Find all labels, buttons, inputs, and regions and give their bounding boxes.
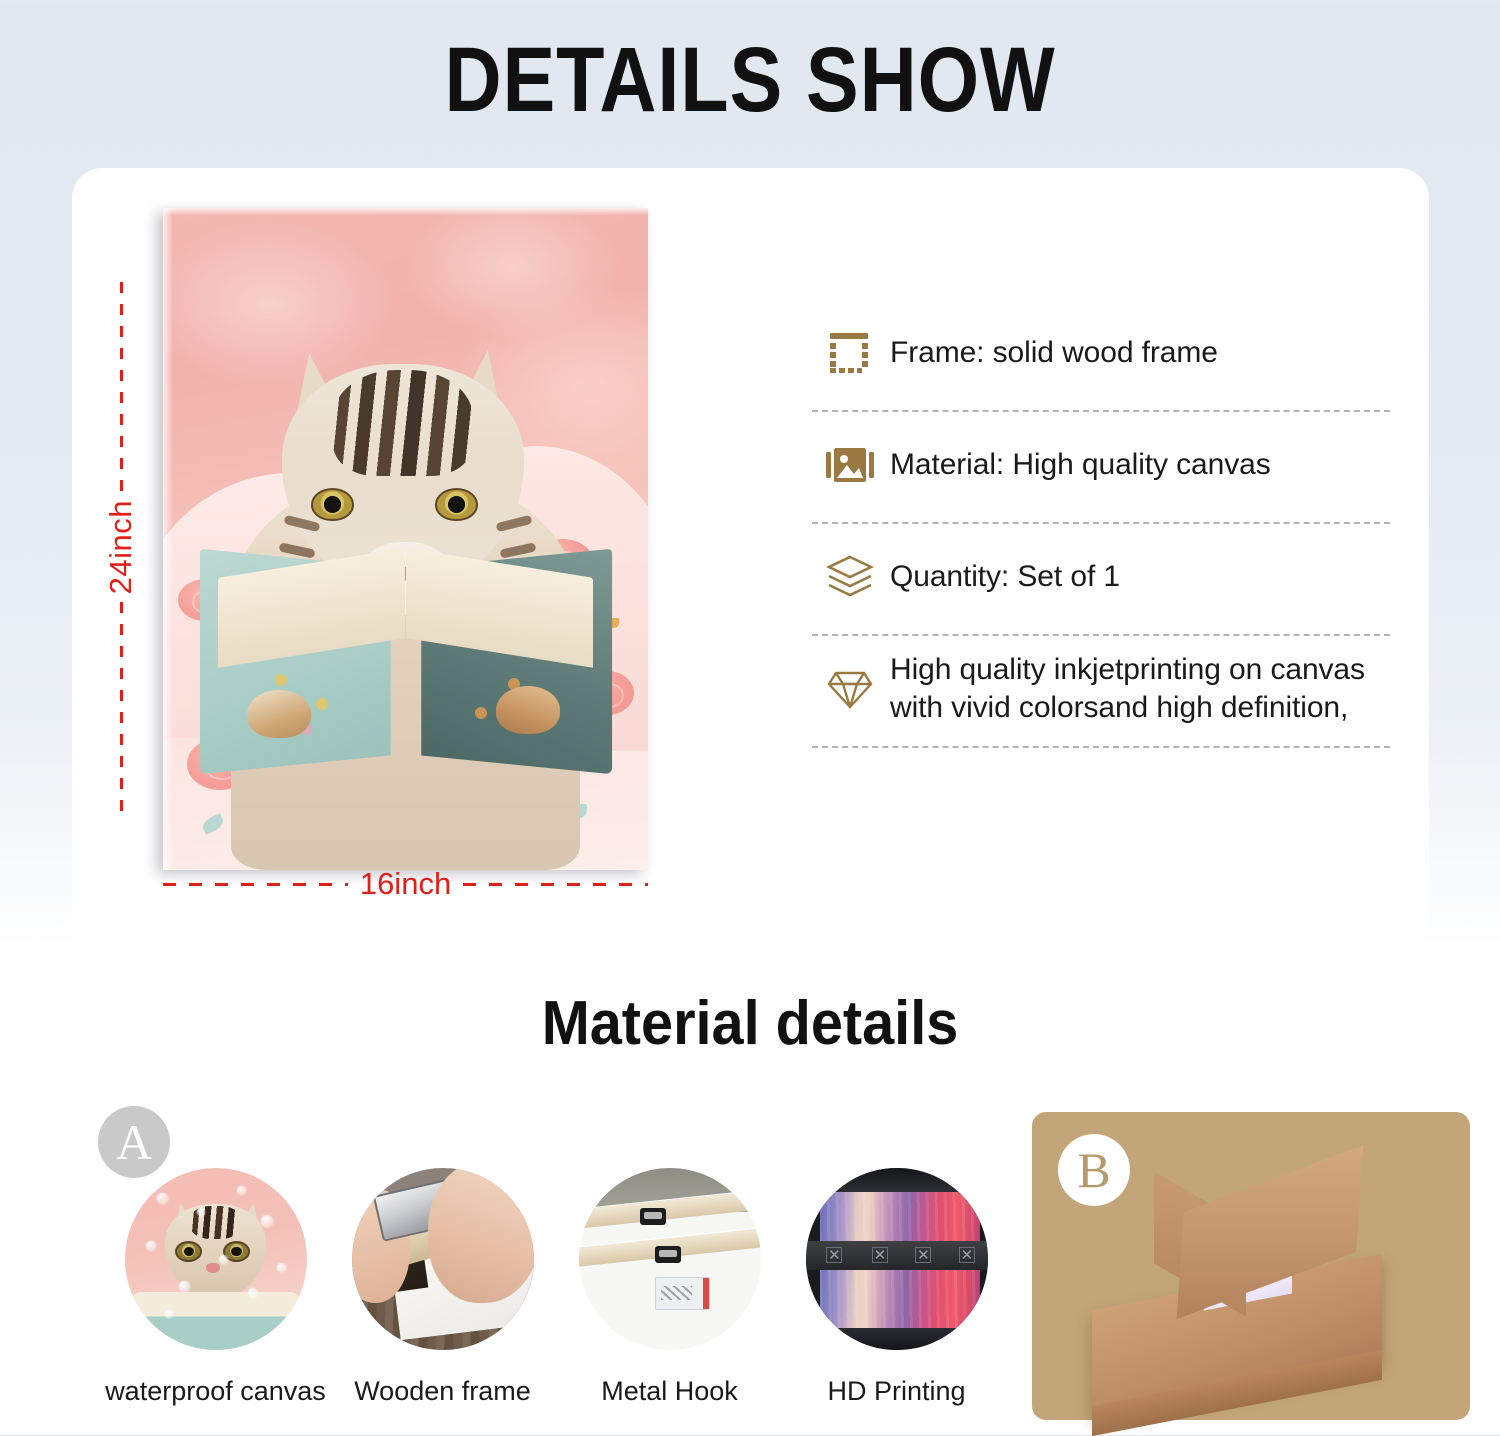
feature-row-quality: High quality inkjetprinting on canvas wi… [812, 636, 1390, 748]
thumb-printer-bottom [806, 1328, 988, 1350]
artwork-cat-eye-left [311, 488, 354, 521]
diamond-icon [812, 667, 890, 711]
material-panel-a: A waterp [96, 1106, 986, 1416]
panel-a-badge: A [98, 1106, 170, 1178]
water-droplet [179, 1281, 190, 1292]
artwork-cat-forehead-stripes [333, 370, 474, 476]
material-thumb-item: Wooden frame [333, 1168, 552, 1407]
dimension-dash-line [120, 602, 123, 812]
material-thumb-label: waterproof canvas [105, 1376, 326, 1407]
water-droplet [237, 1186, 246, 1195]
metal-hook [655, 1246, 681, 1263]
thumb-print-head-rail: ✕ ✕ ✕ ✕ [806, 1241, 988, 1270]
artwork-cat-eye-right [435, 488, 478, 521]
thumb-book [132, 1292, 299, 1350]
waterproof-canvas-thumb[interactable] [125, 1168, 307, 1350]
feature-label: Frame: solid wood frame [890, 334, 1218, 372]
height-dimension-label: 24inch [103, 500, 139, 594]
print-head-node: ✕ [915, 1247, 931, 1263]
feature-label-line2: with vivid colorsand high definition, [890, 689, 1365, 727]
dimension-dash-line [163, 883, 348, 886]
artwork-top-edge-highlight [163, 208, 648, 215]
canvas-artwork-preview [163, 208, 648, 870]
metal-hook [640, 1208, 666, 1225]
thumb-hand-right [428, 1168, 534, 1303]
feature-label: Quantity: Set of 1 [890, 558, 1120, 596]
image-icon [812, 444, 890, 486]
width-dimension-label: 16inch [360, 866, 451, 902]
layers-icon [812, 554, 890, 600]
water-droplet [146, 1241, 156, 1251]
thumb-cat-nose [206, 1263, 220, 1273]
thumb-screw-bag [655, 1277, 710, 1310]
thumb-screws [661, 1286, 692, 1300]
artwork-cat-paw-left [247, 690, 311, 738]
material-thumb-label: Metal Hook [601, 1376, 738, 1407]
feature-row-material: Material: High quality canvas [812, 412, 1390, 524]
artwork-book [202, 559, 609, 764]
wooden-frame-thumb[interactable] [352, 1168, 534, 1350]
artwork-book-flower [275, 674, 287, 686]
material-thumb-label: Wooden frame [354, 1376, 531, 1407]
artwork-left-edge-highlight [163, 208, 172, 870]
artwork-image [163, 208, 648, 870]
material-thumb-item: Metal Hook [560, 1168, 779, 1407]
dimension-dash-line [463, 883, 648, 886]
thumb-cat-eye-left [175, 1241, 202, 1262]
cardboard-mailer-box [1092, 1174, 1432, 1400]
height-dimension: 24inch [97, 282, 145, 812]
hd-printing-thumb[interactable]: ✕ ✕ ✕ ✕ [806, 1168, 988, 1350]
print-head-node: ✕ [872, 1247, 888, 1263]
feature-list: Frame: solid wood frame Material: High q… [812, 300, 1390, 748]
material-thumb-label: HD Printing [827, 1376, 965, 1407]
water-droplet [277, 1263, 286, 1272]
feature-label: Material: High quality canvas [890, 446, 1271, 484]
metal-hook-thumb[interactable] [579, 1168, 761, 1350]
print-head-node: ✕ [826, 1247, 842, 1263]
artwork-cat-paw-right [496, 686, 560, 734]
feature-row-quantity: Quantity: Set of 1 [812, 524, 1390, 636]
thumb-printer-top [806, 1168, 988, 1192]
material-thumb-row: waterproof canvas Wooden frame [106, 1168, 1006, 1407]
water-droplet [261, 1215, 273, 1227]
feature-row-frame: Frame: solid wood frame [812, 300, 1390, 412]
material-thumb-item: ✕ ✕ ✕ ✕ HD Printing [787, 1168, 1006, 1407]
print-head-node: ✕ [959, 1247, 975, 1263]
dimension-dash-line [120, 282, 123, 492]
water-droplet [157, 1193, 168, 1204]
material-thumb-item: waterproof canvas [106, 1168, 325, 1407]
feature-label: High quality inkjetprinting on canvas wi… [890, 651, 1365, 728]
water-droplet [165, 1310, 173, 1318]
material-panel-b: B [1032, 1112, 1470, 1420]
page-title: DETAILS SHOW [105, 28, 1395, 133]
width-dimension: 16inch [163, 862, 648, 906]
artwork-book-flower [475, 707, 487, 719]
feature-label-line1: High quality inkjetprinting on canvas [890, 651, 1365, 689]
section-title-material-details: Material details [53, 988, 1448, 1059]
frame-icon [812, 332, 890, 374]
